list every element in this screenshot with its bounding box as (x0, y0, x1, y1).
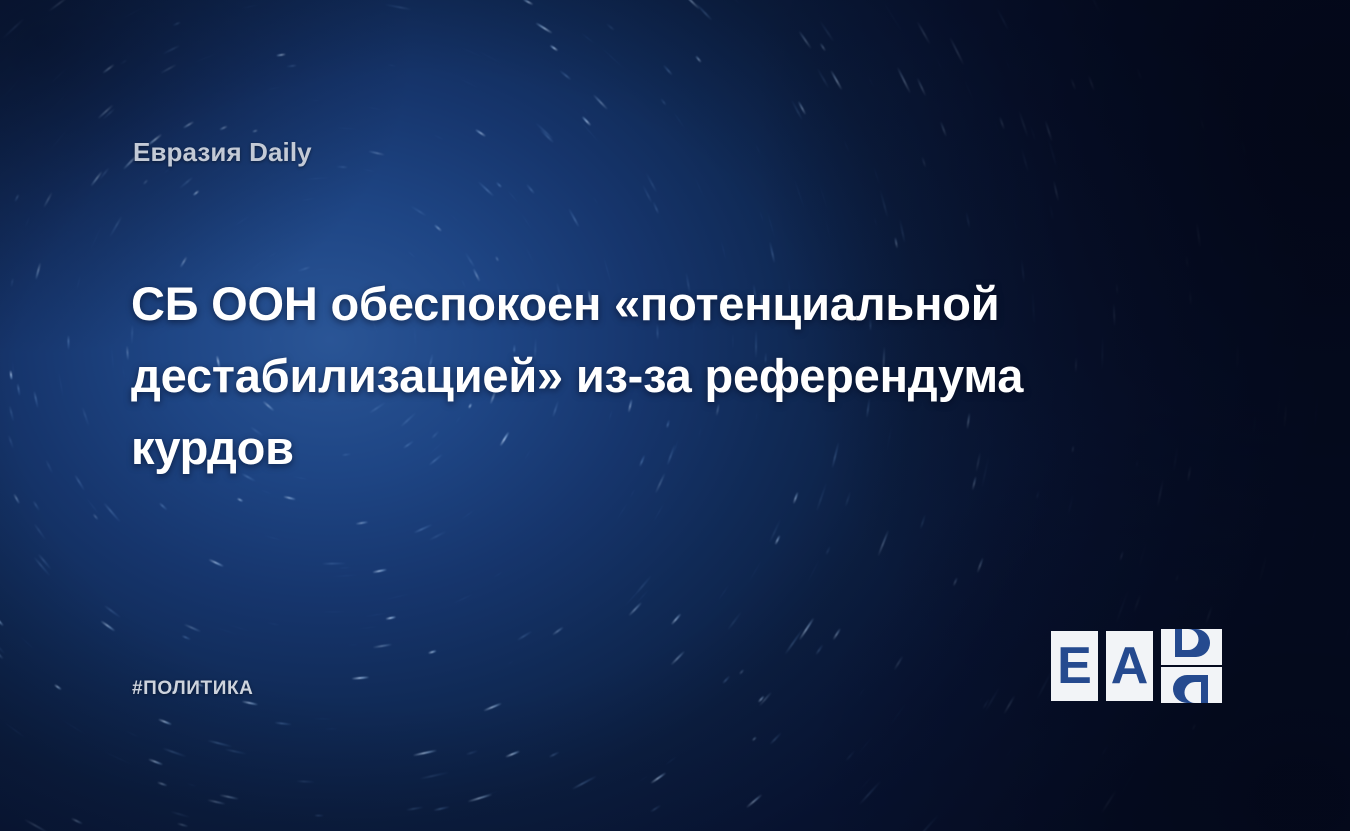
logo-tile-d-bottom (1161, 667, 1222, 703)
eadaily-logo: E A (1051, 629, 1222, 703)
logo-tile-d-top (1161, 629, 1222, 665)
logo-d-bottom-icon (1161, 667, 1222, 703)
headline-line-2: дестабилизацией» из-за референдума (131, 340, 1191, 412)
logo-d-top-icon (1161, 629, 1222, 665)
page-title: СБ ООН обеспокоен «потенциальной дестаби… (131, 268, 1191, 484)
news-card: Евразия Daily СБ ООН обеспокоен «потенци… (0, 0, 1350, 831)
brand-name: Евразия Daily (133, 137, 312, 168)
headline-line-1: СБ ООН обеспокоен «потенциальной (131, 268, 1191, 340)
logo-tile-e: E (1051, 631, 1098, 701)
category-tag: #ПОЛИТИКА (132, 678, 254, 700)
logo-letter-a: A (1106, 631, 1153, 701)
headline-line-3: курдов (131, 412, 1191, 484)
logo-letter-e: E (1051, 631, 1098, 701)
logo-tile-a: A (1106, 631, 1153, 701)
